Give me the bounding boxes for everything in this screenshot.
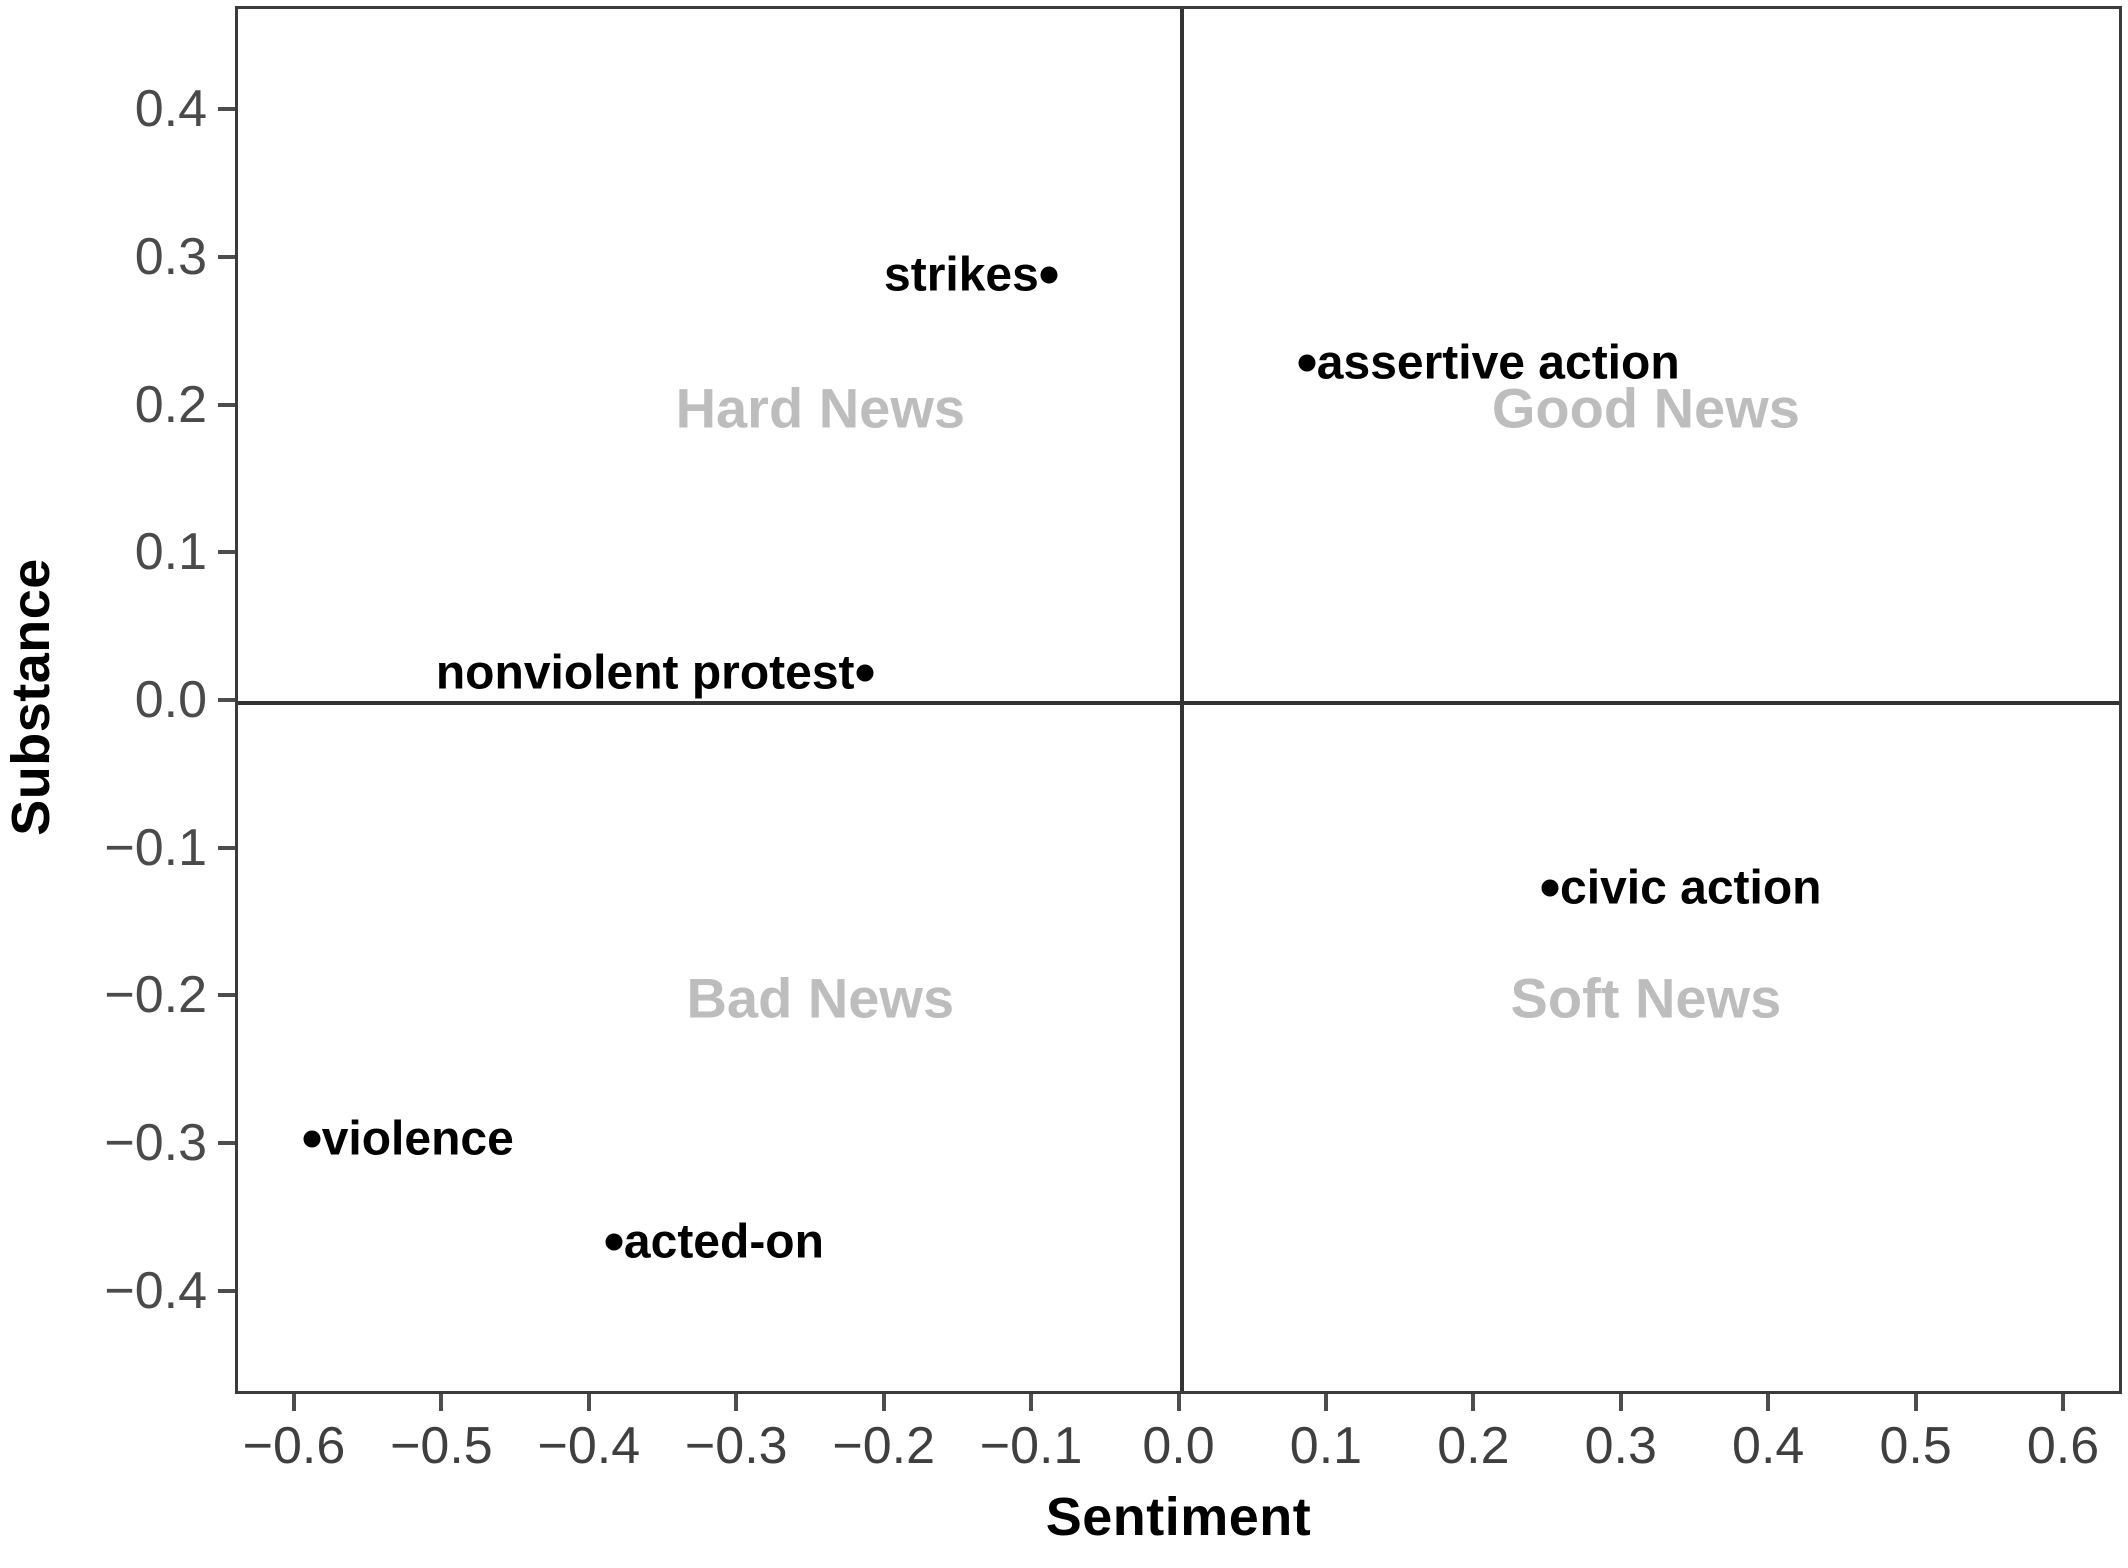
x-tick-label: 0.6: [2027, 1416, 2099, 1476]
x-axis-title: Sentiment: [235, 1486, 2122, 1548]
y-tick-mark: [218, 107, 235, 111]
x-tick-mark: [1029, 1394, 1033, 1411]
y-tick-label: 0.3: [135, 227, 207, 287]
x-tick-mark: [1471, 1394, 1475, 1411]
x-tick-label: −0.3: [685, 1416, 788, 1476]
x-tick-label: −0.6: [243, 1416, 346, 1476]
data-point[interactable]: [605, 1233, 622, 1250]
x-tick-label: −0.2: [832, 1416, 935, 1476]
y-tick-label: −0.4: [104, 1261, 207, 1321]
x-tick-mark: [1177, 1394, 1181, 1411]
x-tick-mark: [1766, 1394, 1770, 1411]
x-tick-mark: [2061, 1394, 2065, 1411]
quadrant-label: Soft News: [1511, 966, 1782, 1031]
data-point-label: nonviolent protest: [436, 646, 855, 701]
x-tick-mark: [882, 1394, 886, 1411]
data-point-label: strikes: [884, 247, 1039, 302]
x-tick-mark: [587, 1394, 591, 1411]
y-tick-label: 0.1: [135, 522, 207, 582]
plot-panel: strikesassertive actionnonviolent protes…: [235, 6, 2122, 1394]
vertical-reference-line: [1180, 9, 1184, 1391]
x-tick-mark: [1914, 1394, 1918, 1411]
x-tick-label: 0.2: [1437, 1416, 1509, 1476]
data-point-label: violence: [322, 1111, 514, 1166]
x-tick-label: −0.1: [980, 1416, 1083, 1476]
x-tick-label: 0.3: [1585, 1416, 1657, 1476]
data-point[interactable]: [856, 665, 873, 682]
chart-canvas: Substance strikesassertive actionnonviol…: [0, 0, 2128, 1568]
data-point-label: civic action: [1560, 860, 1821, 915]
x-tick-mark: [439, 1394, 443, 1411]
y-tick-mark: [218, 255, 235, 259]
x-tick-label: 0.0: [1142, 1416, 1214, 1476]
x-tick-label: 0.4: [1732, 1416, 1804, 1476]
data-point[interactable]: [1040, 266, 1057, 283]
quadrant-label: Hard News: [676, 375, 965, 440]
x-tick-mark: [292, 1394, 296, 1411]
y-tick-mark: [218, 1289, 235, 1293]
y-tick-label: 0.2: [135, 375, 207, 435]
y-axis-title: Substance: [0, 0, 62, 1394]
y-tick-mark: [218, 993, 235, 997]
x-tick-label: −0.5: [390, 1416, 493, 1476]
data-point[interactable]: [1542, 879, 1559, 896]
y-tick-mark: [218, 550, 235, 554]
horizontal-reference-line: [238, 701, 2119, 705]
quadrant-label: Good News: [1492, 375, 1800, 440]
y-tick-label: −0.3: [104, 1113, 207, 1173]
data-point[interactable]: [303, 1130, 320, 1147]
quadrant-label: Bad News: [686, 966, 954, 1031]
x-tick-mark: [734, 1394, 738, 1411]
y-tick-mark: [218, 1141, 235, 1145]
data-point-label: acted-on: [624, 1214, 824, 1269]
y-tick-label: −0.2: [104, 965, 207, 1025]
y-tick-label: 0.4: [135, 79, 207, 139]
y-tick-mark: [218, 846, 235, 850]
x-tick-label: 0.1: [1290, 1416, 1362, 1476]
x-tick-label: 0.5: [1879, 1416, 1951, 1476]
y-tick-label: −0.1: [104, 818, 207, 878]
y-tick-label: 0.0: [135, 670, 207, 730]
data-point[interactable]: [1298, 355, 1315, 372]
y-tick-mark: [218, 698, 235, 702]
x-tick-mark: [1619, 1394, 1623, 1411]
x-tick-label: −0.4: [537, 1416, 640, 1476]
y-tick-mark: [218, 403, 235, 407]
x-tick-mark: [1324, 1394, 1328, 1411]
